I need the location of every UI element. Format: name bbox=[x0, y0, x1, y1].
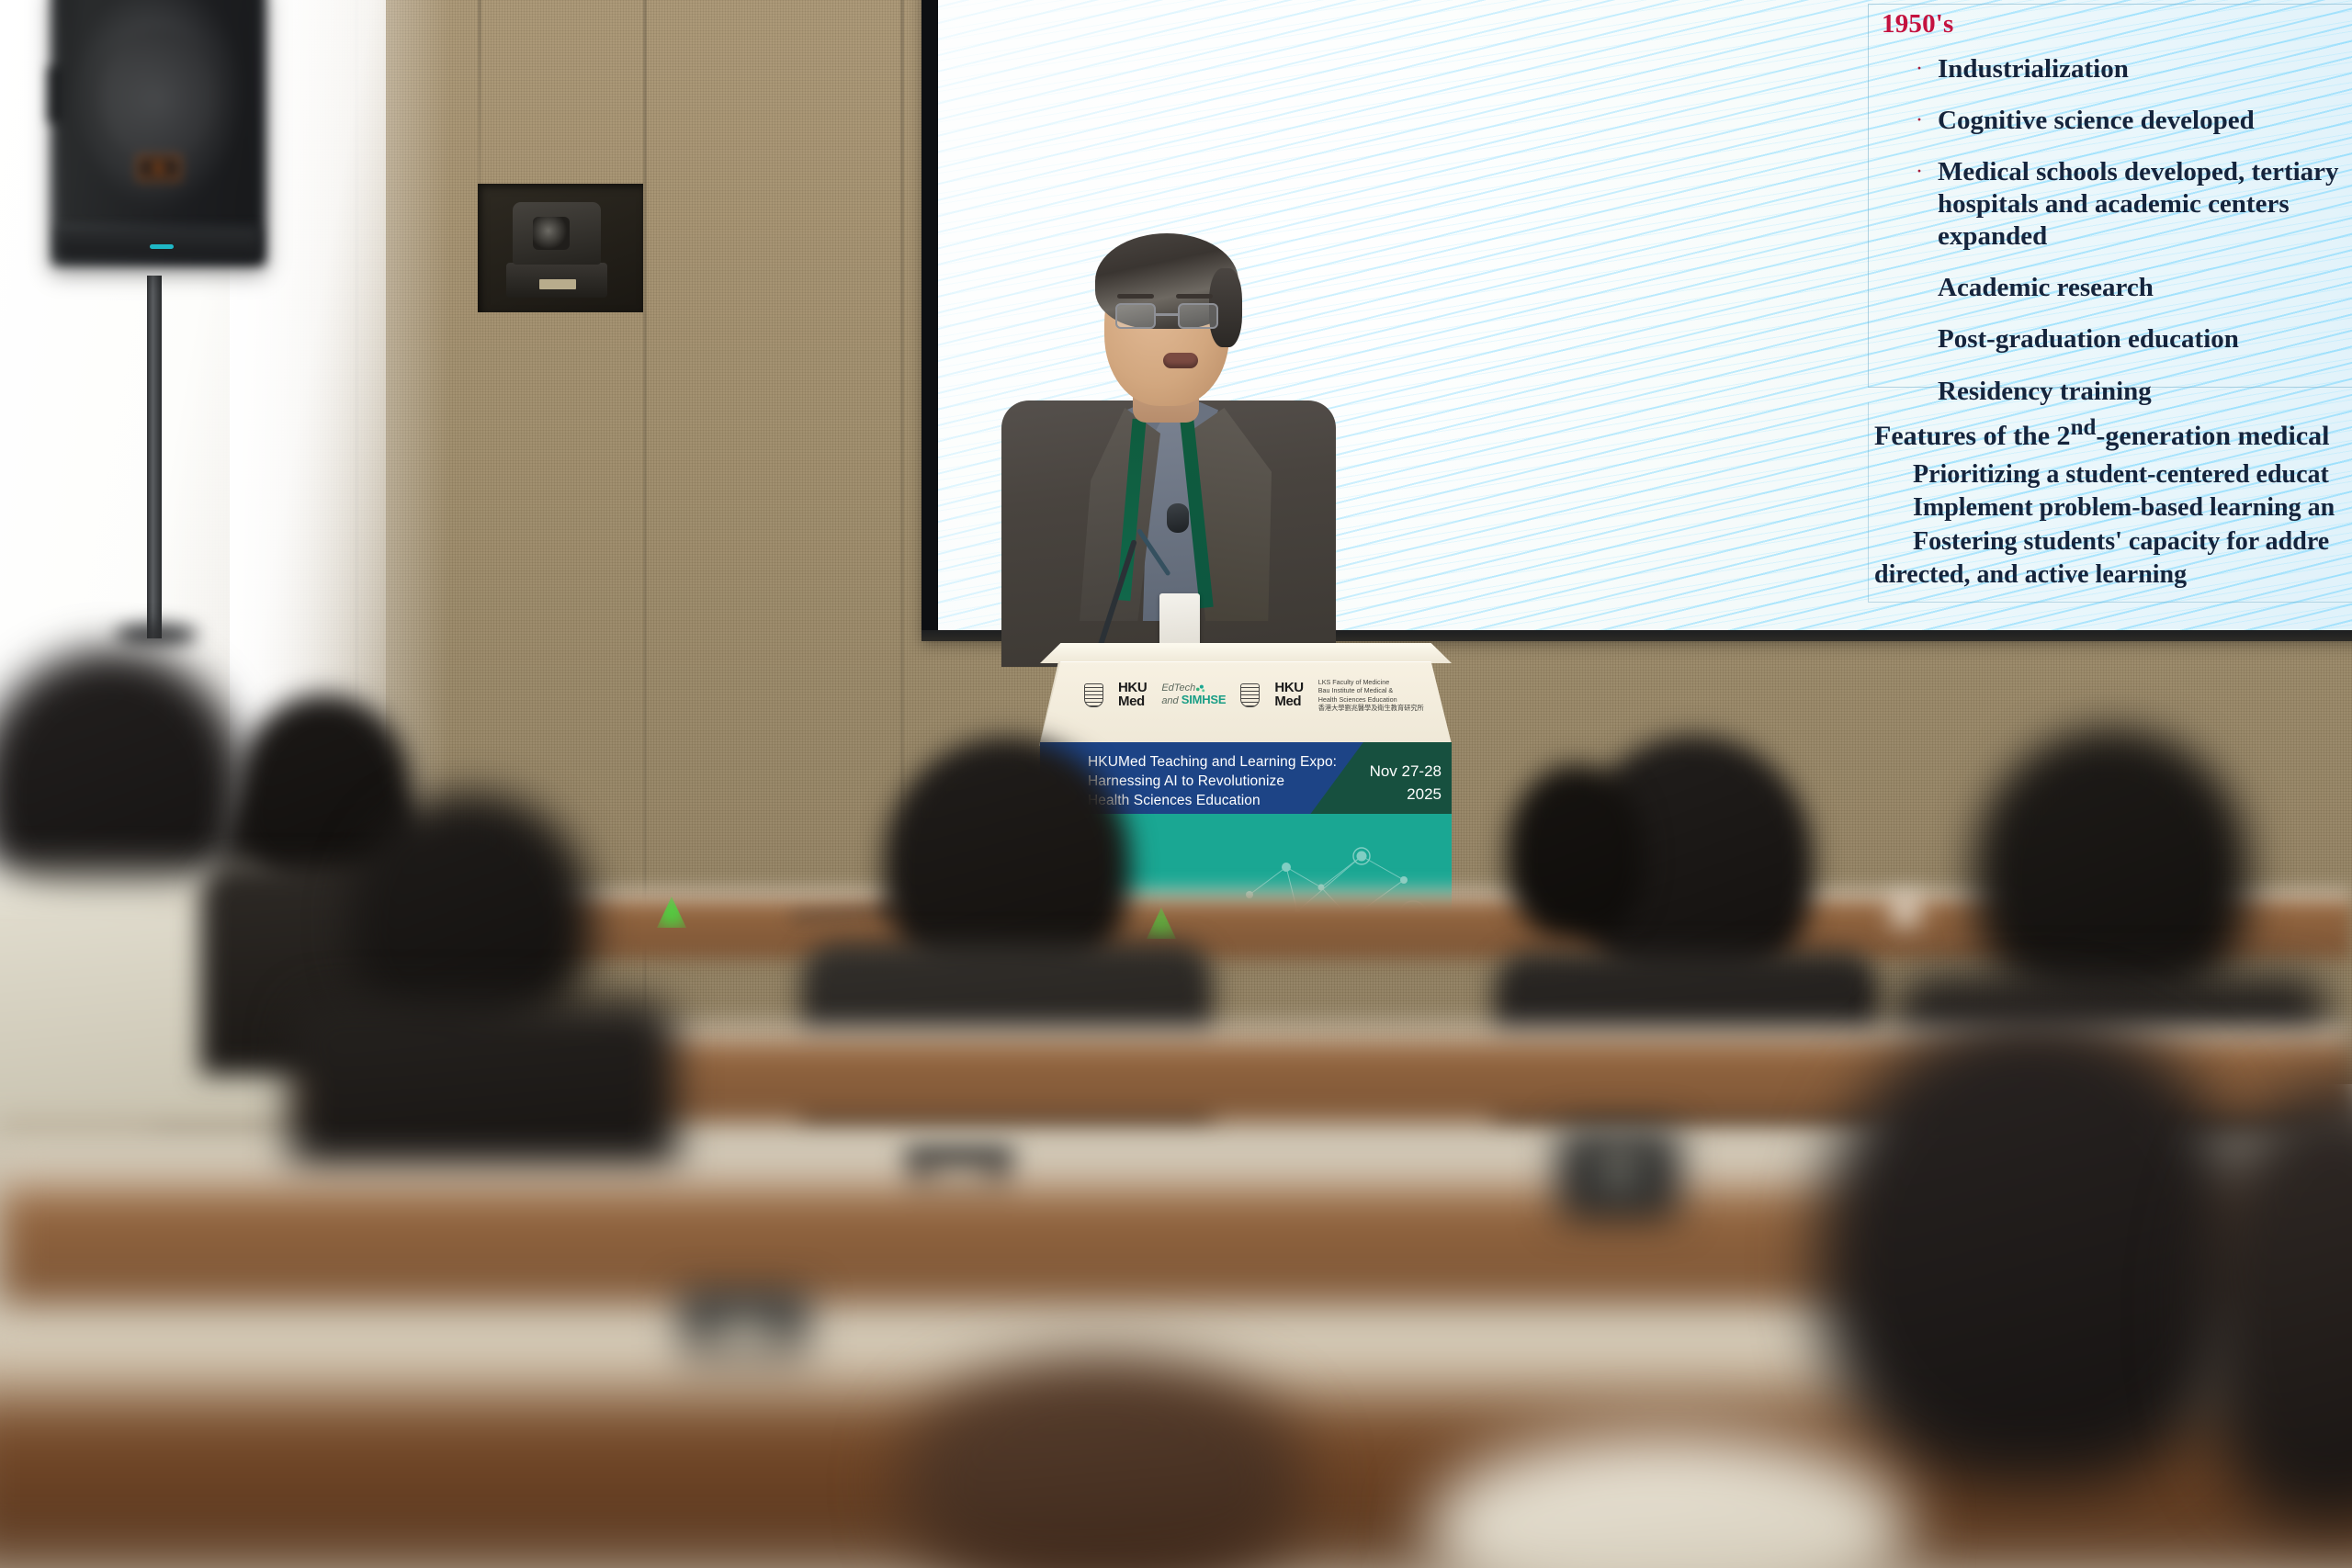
presenter bbox=[1029, 246, 1305, 660]
speaker-stand-foot bbox=[115, 625, 198, 645]
speaker-woofer-icon bbox=[87, 29, 227, 169]
bullet-marker bbox=[1916, 323, 1938, 328]
section-heading-rest: -generation medical bbox=[2096, 421, 2329, 451]
bullet-marker bbox=[1916, 376, 1938, 380]
bullet-text: Post-graduation education bbox=[1938, 323, 2239, 355]
section-line: Prioritizing a student-centered educat bbox=[1913, 458, 2352, 491]
section-heading-sup: nd bbox=[2071, 415, 2097, 440]
edtech-label: EdTech bbox=[1161, 682, 1195, 694]
eyebrow-left bbox=[1117, 294, 1154, 299]
event-title-line: Harnessing AI to Revolutionize bbox=[1088, 773, 1337, 792]
list-item: Residency training bbox=[1916, 376, 2352, 408]
event-title-line: HKUMed Teaching and Learning Expo: bbox=[1088, 753, 1337, 773]
hkumed-logo-2: HKU Med bbox=[1274, 682, 1303, 708]
paper-cup bbox=[1893, 896, 1918, 927]
presenter-mouth bbox=[1163, 353, 1198, 368]
faculty-line: Health Sciences Education bbox=[1318, 695, 1424, 704]
list-item: Academic research bbox=[1916, 272, 2352, 304]
bullet-marker bbox=[1916, 272, 1938, 276]
lens-left bbox=[1115, 303, 1156, 329]
simhse-label: SIMHSE bbox=[1182, 693, 1227, 706]
slide-section-two: Features of the 2nd-generation medical P… bbox=[1874, 415, 2352, 592]
lecture-hall-photo: 1950's ·Industrialization ·Cognitive sci… bbox=[0, 0, 2352, 1568]
jbl-logo: JBL bbox=[138, 156, 180, 180]
eyeglasses-icon bbox=[1115, 303, 1218, 331]
event-title-line: Health Sciences Education bbox=[1088, 792, 1337, 811]
faculty-line-zh: 香港大學劉兆醫學及衛生教育研究所 bbox=[1318, 704, 1424, 712]
list-item: Post-graduation education bbox=[1916, 323, 2352, 355]
wall-panel-seam bbox=[478, 0, 481, 188]
list-item: ·Cognitive science developed bbox=[1916, 105, 2352, 137]
speaker-base bbox=[58, 228, 259, 259]
section-line: Implement problem-based learning an bbox=[1913, 491, 2352, 525]
lectern-logo-row: HKU Med EdTech and SIMHSE HKU Med LKS Fa… bbox=[1084, 678, 1424, 712]
glasses-bridge bbox=[1156, 313, 1178, 316]
faculty-name-block: LKS Faculty of Medicine Bau Institute of… bbox=[1318, 678, 1424, 712]
bullet-text: Medical schools developed, tertiary hosp… bbox=[1938, 156, 2339, 253]
pa-speaker: JBL bbox=[51, 0, 266, 266]
speaker-power-led bbox=[150, 244, 174, 249]
camera-label bbox=[539, 279, 576, 289]
section-heading-main: Features of the 2 bbox=[1874, 421, 2071, 451]
section-heading: Features of the 2nd-generation medical bbox=[1874, 415, 2352, 452]
speaker-stand-pole bbox=[147, 276, 162, 638]
outlet-switch bbox=[1593, 1160, 1645, 1179]
bullet-text: Residency training bbox=[1938, 376, 2152, 408]
lectern-top-surface bbox=[1040, 643, 1452, 663]
list-item: ·Industrialization bbox=[1916, 53, 2352, 85]
section-line: Fostering students' capacity for addre bbox=[1913, 525, 2352, 558]
hkumed-logo: HKU Med bbox=[1118, 682, 1147, 708]
bullet-marker: · bbox=[1916, 105, 1938, 131]
audience-head-foreground bbox=[1819, 1009, 2251, 1486]
audience-head bbox=[1507, 764, 1645, 939]
and-label: and bbox=[1161, 695, 1178, 706]
list-item: ·Medical schools developed, tertiary hos… bbox=[1916, 156, 2352, 253]
slide-bullet-list: ·Industrialization ·Cognitive science de… bbox=[1916, 53, 2352, 427]
speaker-handle bbox=[47, 66, 60, 123]
section-line: directed, and active learning bbox=[1874, 558, 2352, 592]
eyebrow-right bbox=[1176, 294, 1213, 299]
slide-era-heading: 1950's bbox=[1882, 9, 1954, 39]
event-date: Nov 27-28 2025 bbox=[1357, 761, 1442, 806]
edtech-simhse-logo: EdTech and SIMHSE bbox=[1161, 683, 1226, 706]
audience-head bbox=[1973, 728, 2249, 1012]
lens-right bbox=[1178, 303, 1218, 329]
hku-crest-icon bbox=[1084, 683, 1103, 707]
event-date-line: 2025 bbox=[1357, 784, 1442, 807]
power-outlet bbox=[1560, 1130, 1678, 1218]
faculty-line: LKS Faculty of Medicine bbox=[1318, 678, 1424, 686]
camera-lens-icon bbox=[533, 217, 570, 250]
audience-body bbox=[290, 998, 676, 1181]
bullet-text: Cognitive science developed bbox=[1938, 105, 2255, 137]
bullet-text: Industrialization bbox=[1938, 53, 2129, 85]
bullet-marker: · bbox=[1916, 53, 1938, 80]
hku-crest-icon bbox=[1240, 683, 1260, 707]
bullet-text: Academic research bbox=[1938, 272, 2154, 304]
faculty-line: Bau Institute of Medical & bbox=[1318, 686, 1424, 694]
microphone-icon bbox=[1167, 503, 1189, 533]
bullet-marker: · bbox=[1916, 156, 1938, 183]
event-date-line: Nov 27-28 bbox=[1357, 761, 1442, 784]
event-title: HKUMed Teaching and Learning Expo: Harne… bbox=[1088, 753, 1337, 811]
